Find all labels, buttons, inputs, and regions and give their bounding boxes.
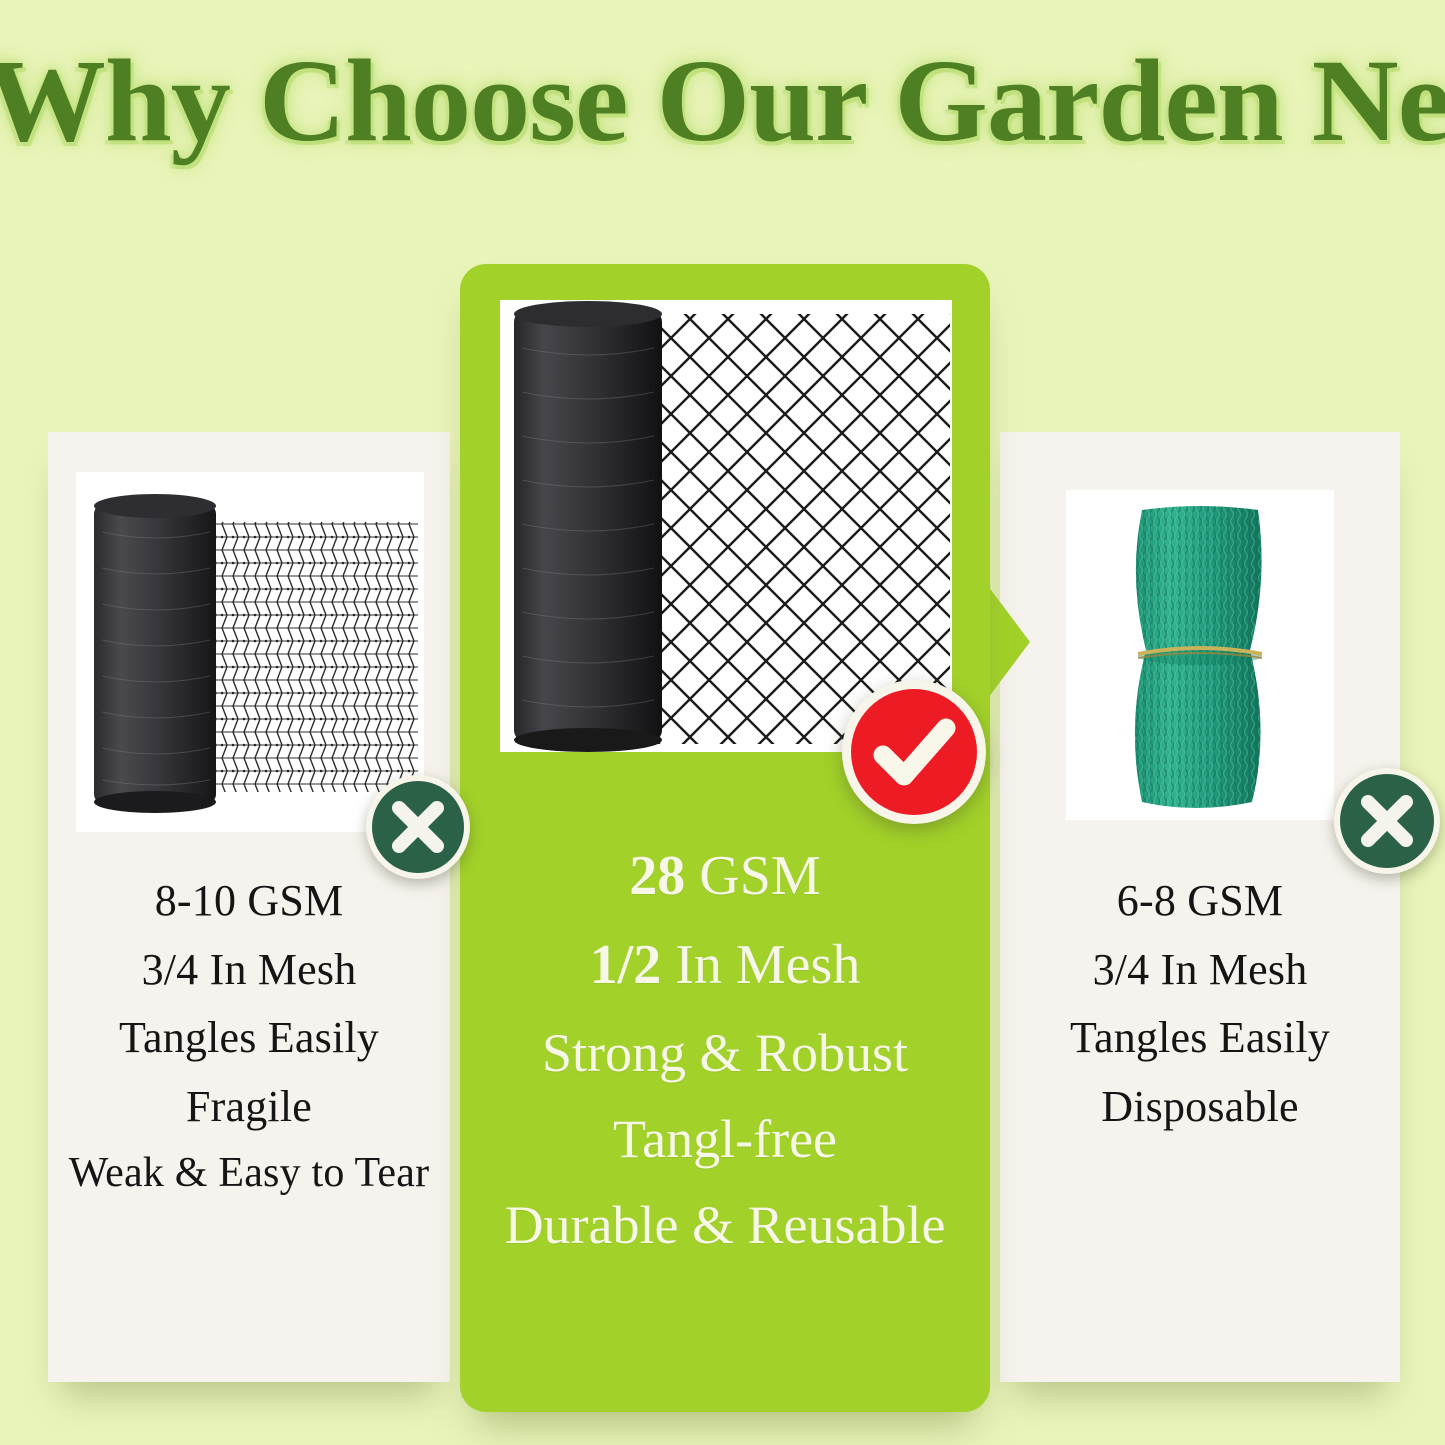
product-photo-right <box>1066 490 1334 820</box>
feature-list-left: 8-10 GSM 3/4 In Mesh Tangles Easily Frag… <box>48 862 450 1212</box>
feature-line-gsm: 28 GSM <box>460 840 990 913</box>
x-mark-icon <box>1334 768 1440 874</box>
feature-line: Disposable <box>1000 1078 1400 1137</box>
infographic-canvas: Why Choose Our Garden Netting? <box>0 0 1445 1445</box>
feature-line: Tangles Easily <box>1000 1009 1400 1068</box>
comparison-column-right: 6-8 GSM 3/4 In Mesh Tangles Easily Dispo… <box>1000 432 1400 1382</box>
gsm-value: 28 <box>629 845 685 907</box>
feature-list-right: 6-8 GSM 3/4 In Mesh Tangles Easily Dispo… <box>1000 862 1400 1146</box>
feature-line: 3/4 In Mesh <box>48 941 450 1000</box>
feature-line: 8-10 GSM <box>48 872 450 931</box>
feature-line: 6-8 GSM <box>1000 872 1400 931</box>
feature-line: Fragile <box>48 1078 450 1137</box>
comparison-column-left: 8-10 GSM 3/4 In Mesh Tangles Easily Frag… <box>48 432 450 1382</box>
pointer-arrow <box>988 586 1030 698</box>
feature-list-center: 28 GSM 1/2 In Mesh Strong & Robust Tangl… <box>460 824 990 1276</box>
feature-line: Weak & Easy to Tear <box>48 1146 450 1202</box>
feature-line-mesh: 1/2 In Mesh <box>460 929 990 1002</box>
mesh-unit: In Mesh <box>661 934 860 996</box>
check-mark-icon <box>842 680 986 824</box>
gsm-unit: GSM <box>685 845 820 907</box>
feature-line: 3/4 In Mesh <box>1000 941 1400 1000</box>
comparison-column-center: 28 GSM 1/2 In Mesh Strong & Robust Tangl… <box>460 264 990 1412</box>
x-mark-icon <box>366 775 470 879</box>
feature-line: Tangl-free <box>460 1104 990 1174</box>
page-title: Why Choose Our Garden Netting? <box>0 42 1445 160</box>
feature-line: Tangles Easily <box>48 1009 450 1068</box>
feature-line: Durable & Reusable <box>460 1190 990 1260</box>
mesh-value: 1/2 <box>590 934 662 996</box>
feature-line: Strong & Robust <box>460 1018 990 1088</box>
